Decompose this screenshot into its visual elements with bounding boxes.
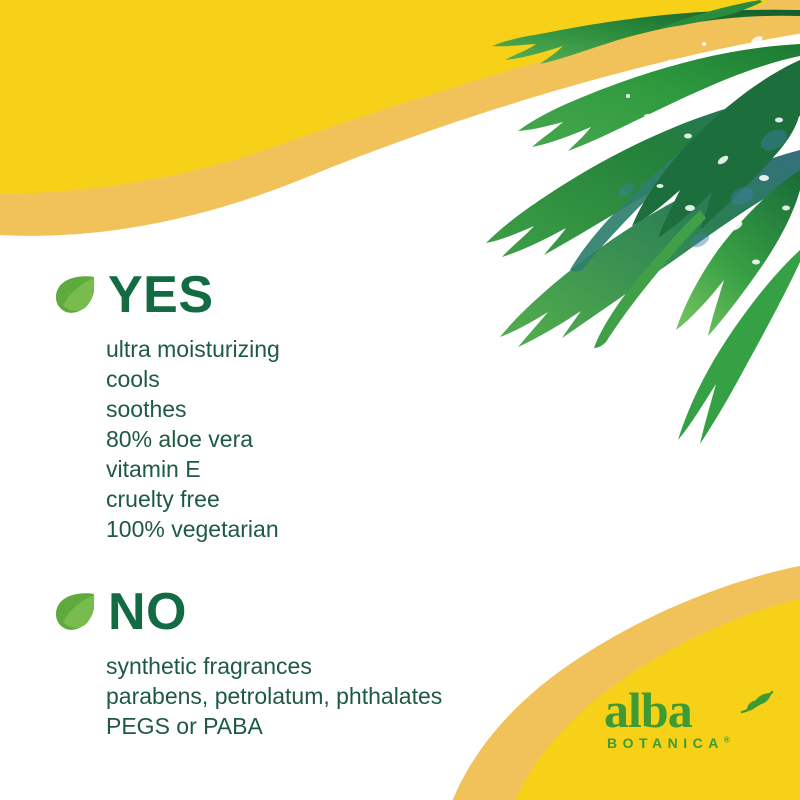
list-item: vitamin E: [106, 454, 280, 484]
tan-arc-top: [0, 0, 800, 236]
section-no-list: synthetic fragrances parabens, petrolatu…: [106, 651, 442, 741]
list-item: ultra moisturizing: [106, 334, 280, 364]
leaf-sprig-icon: [740, 690, 774, 718]
poster-canvas: YES ultra moisturizing cools soothes 80%…: [0, 0, 800, 800]
list-item: 100% vegetarian: [106, 514, 280, 544]
logo-subtitle: BOTANICA®: [607, 735, 774, 751]
tan-arc-bottom: [440, 560, 800, 800]
registered-mark: ®: [724, 735, 730, 744]
list-item: cools: [106, 364, 280, 394]
section-no-title: NO: [108, 586, 187, 638]
yellow-arc-top: [0, 0, 800, 193]
aloe-plant-watercolor: [486, 0, 800, 444]
brand-logo: alba BOTANICA®: [604, 688, 774, 758]
section-yes-heading-row: YES: [52, 268, 280, 320]
list-item: cruelty free: [106, 484, 280, 514]
section-no: NO synthetic fragrances parabens, petrol…: [52, 585, 442, 741]
section-yes: YES ultra moisturizing cools soothes 80%…: [52, 268, 280, 544]
section-no-heading-row: NO: [52, 585, 442, 637]
list-item: synthetic fragrances: [106, 651, 442, 681]
list-item: parabens, petrolatum, phthalates: [106, 681, 442, 711]
list-item: 80% aloe vera: [106, 424, 280, 454]
list-item: PEGS or PABA: [106, 711, 442, 741]
section-yes-title: YES: [108, 269, 214, 321]
logo-subtitle-text: BOTANICA: [607, 735, 724, 751]
leaf-icon: [52, 588, 98, 634]
list-item: soothes: [106, 394, 280, 424]
leaf-icon: [52, 271, 98, 317]
section-yes-list: ultra moisturizing cools soothes 80% alo…: [106, 334, 280, 544]
